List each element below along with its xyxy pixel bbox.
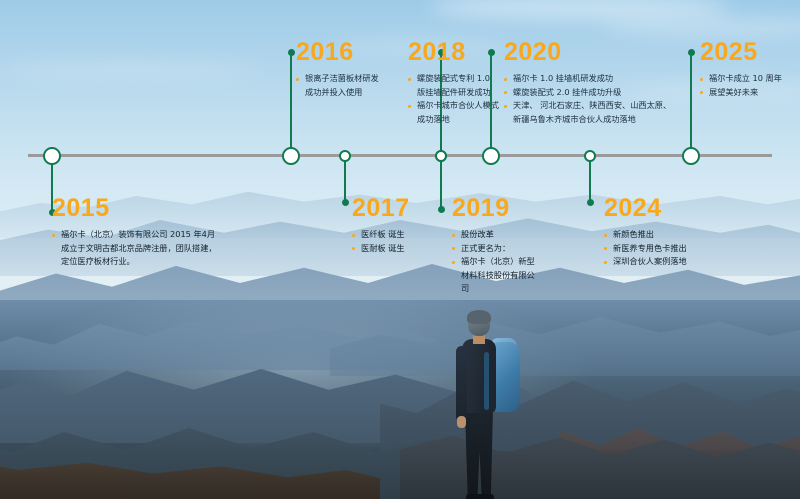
hiker-figure [440,312,550,499]
timeline-entry-2019: 2019股份改革正式更名为：福尔卡（北京）新型材料科技股份有限公司 [452,196,542,296]
timeline-item: 银离子洁菌板材研发成功并投入使用 [296,72,386,99]
timeline-stem-dot [688,49,695,56]
timeline-item: 深圳合伙人案例落地 [604,255,709,269]
timeline-item: 正式更名为： [452,242,542,256]
hiker-hair [467,310,491,324]
hiker-arm [456,346,467,422]
timeline-item-list: 福尔卡成立 10 周年展望美好未来 [700,72,795,99]
hiker-boots [466,494,494,499]
timeline-stem [490,52,493,155]
timeline-item: 螺旋装配式专利 1.0 版挂墙配件研发成功 [408,72,500,99]
timeline-item-list: 福尔卡 1.0 挂墙机研发成功螺旋装配式 2.0 挂件成功升级天津、 河北石家庄… [504,72,679,126]
timeline-year-label: 2019 [452,196,542,221]
timeline-year-label: 2024 [604,196,709,221]
timeline-entry-2025: 2025福尔卡成立 10 周年展望美好未来 [700,40,795,99]
backpack-strap [484,352,489,410]
timeline-item: 新颜色推出 [604,228,709,242]
timeline-node-2019[interactable] [435,150,447,162]
timeline-entry-2017: 2017医纤板 诞生医耐板 诞生 [352,196,442,255]
timeline-stem-dot [587,199,594,206]
timeline-node-2025[interactable] [682,147,700,165]
timeline-year-label: 2016 [296,40,386,65]
timeline-stem [344,155,347,203]
timeline-entry-2020: 2020福尔卡 1.0 挂墙机研发成功螺旋装配式 2.0 挂件成功升级天津、 河… [504,40,679,126]
timeline-year-label: 2020 [504,40,679,65]
timeline-item-list: 股份改革正式更名为：福尔卡（北京）新型材料科技股份有限公司 [452,228,542,296]
timeline-year-label: 2018 [408,40,500,65]
timeline-stem [440,155,443,210]
timeline-item: 医耐板 诞生 [352,242,442,256]
timeline-stem [589,155,592,203]
timeline-node-2020[interactable] [482,147,500,165]
timeline-item: 螺旋装配式 2.0 挂件成功升级 [504,86,679,100]
timeline-year-label: 2015 [52,196,217,221]
timeline-item-list: 螺旋装配式专利 1.0 版挂墙配件研发成功福尔卡城市合伙人模式成功落地 [408,72,500,126]
timeline-item: 股份改革 [452,228,542,242]
timeline-axis [28,154,772,157]
timeline-node-2024[interactable] [584,150,596,162]
timeline-item: 福尔卡城市合伙人模式成功落地 [408,99,500,126]
timeline-item-list: 新颜色推出新医养专用色卡推出深圳合伙人案例落地 [604,228,709,269]
timeline-entry-2018: 2018螺旋装配式专利 1.0 版挂墙配件研发成功福尔卡城市合伙人模式成功落地 [408,40,500,126]
timeline-item-list: 银离子洁菌板材研发成功并投入使用 [296,72,386,99]
timeline-entry-2016: 2016银离子洁菌板材研发成功并投入使用 [296,40,386,99]
timeline-node-2015[interactable] [43,147,61,165]
timeline-stem-dot [488,49,495,56]
timeline-stem-dot [438,206,445,213]
timeline-node-2016[interactable] [282,147,300,165]
hiker-hand [457,416,466,428]
timeline-item-list: 医纤板 诞生医耐板 诞生 [352,228,442,255]
timeline-stem [290,52,293,155]
timeline-item: 福尔卡 1.0 挂墙机研发成功 [504,72,679,86]
timeline-year-label: 2025 [700,40,795,65]
timeline-item: 医纤板 诞生 [352,228,442,242]
timeline-item: 福尔卡（北京）装饰有限公司 2015 年4月成立于文明古都北京品牌注册，团队搭建… [52,228,217,269]
timeline-infographic: 2015福尔卡（北京）装饰有限公司 2015 年4月成立于文明古都北京品牌注册，… [0,0,800,499]
timeline-item-list: 福尔卡（北京）装饰有限公司 2015 年4月成立于文明古都北京品牌注册，团队搭建… [52,228,217,269]
timeline-node-2017[interactable] [339,150,351,162]
hiker-legs [465,410,493,499]
cloud [0,62,260,78]
timeline-item: 展望美好未来 [700,86,795,100]
timeline-year-label: 2017 [352,196,442,221]
timeline-stem-dot [288,49,295,56]
timeline-entry-2015: 2015福尔卡（北京）装饰有限公司 2015 年4月成立于文明古都北京品牌注册，… [52,196,217,269]
timeline-stem [690,52,693,155]
timeline-item: 福尔卡（北京）新型材料科技股份有限公司 [452,255,542,296]
timeline-item: 福尔卡成立 10 周年 [700,72,795,86]
timeline-entry-2024: 2024新颜色推出新医养专用色卡推出深圳合伙人案例落地 [604,196,709,269]
timeline-stem-dot [342,199,349,206]
timeline-item: 天津、 河北石家庄、陕西西安、山西太原、新疆乌鲁木齐城市合伙人成功落地 [504,99,679,126]
hiker-torso [462,339,496,413]
timeline-item: 新医养专用色卡推出 [604,242,709,256]
